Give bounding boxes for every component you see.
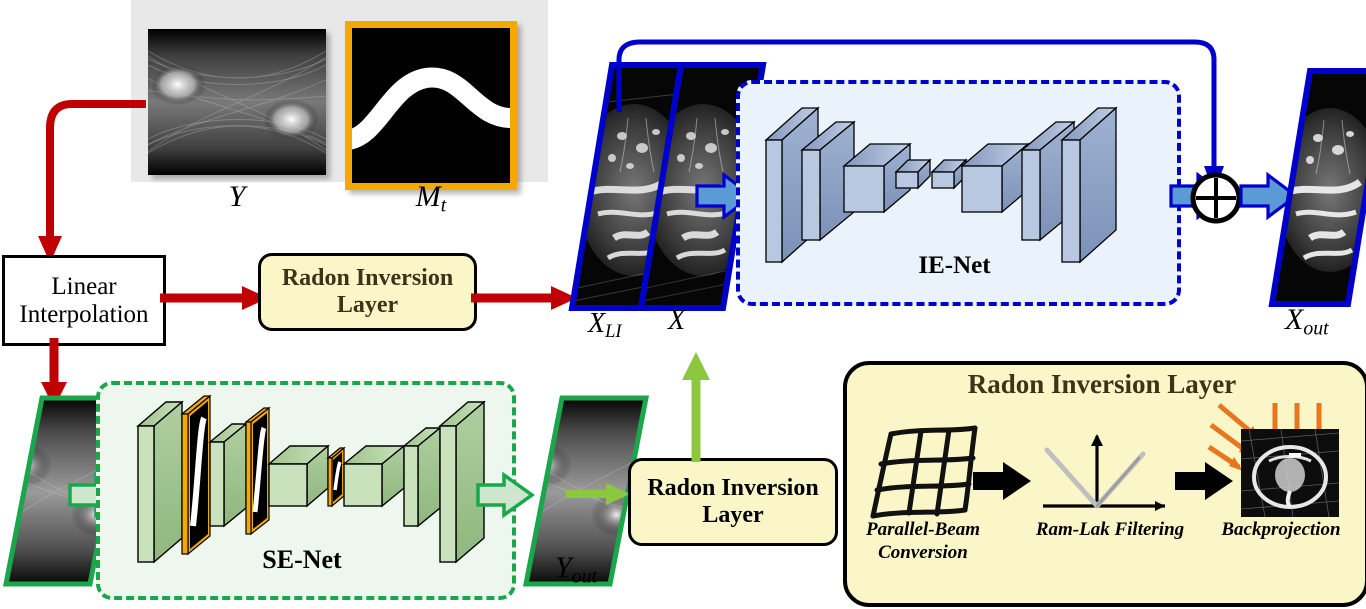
se-mask-slice-2: [246, 408, 269, 534]
radon-bottom-label-line2: Layer: [702, 502, 763, 529]
ram-lak-filtering-icon: [1035, 428, 1175, 522]
mask-mt-image: [345, 21, 517, 190]
ram-lak-filtering-label: Ram-Lak Filtering: [1020, 519, 1200, 541]
linear-interpolation-block[interactable]: Linear Interpolation: [2, 255, 166, 346]
se-block-2: [210, 424, 246, 526]
ct-xout-image: [1268, 68, 1366, 308]
se-mask-slice-3: [328, 448, 344, 506]
pbc-line2: Conversion: [848, 542, 998, 565]
radon-bottom-label-line1: Radon Inversion: [647, 475, 818, 502]
skip-connection-xhat-to-sum: [600, 30, 1240, 200]
se-block-3: [269, 446, 328, 506]
radon-inversion-layer-bottom-block[interactable]: Radon Inversion Layer: [628, 458, 838, 546]
pbc-line1: Parallel-Beam: [848, 519, 998, 542]
parallel-beam-conversion-label: Parallel-Beam Conversion: [848, 519, 998, 565]
ct-xout-label: Xout: [1285, 303, 1329, 341]
arrow-yout-to-radon-bottom: [566, 481, 632, 507]
ct-xli-label: XLI: [588, 308, 622, 342]
arrow-radon-bottom-to-xhat: [672, 340, 722, 462]
arrow-linear-interpolation-to-radon-top: [160, 283, 270, 313]
backprojection-label: Backprojection: [1196, 519, 1366, 541]
radon-top-label-line1: Radon Inversion: [282, 265, 453, 292]
radon-inversion-layer-top-block[interactable]: Radon Inversion Layer: [258, 253, 477, 331]
sum-operator: [1188, 170, 1244, 226]
se-mask-slice-1: [182, 396, 210, 554]
arrow-y-to-linear-interpolation: [0, 60, 180, 285]
backprojection-icon: [1209, 395, 1355, 521]
mask-mt-label: Mt: [345, 180, 517, 218]
se-block-1: [138, 402, 182, 562]
sinogram-yout-label: Yout: [555, 551, 597, 589]
se-block-4: [344, 446, 404, 506]
ct-xhat-label: ̂ X: [668, 305, 685, 337]
radon-top-label-line2: Layer: [337, 292, 398, 319]
linear-interpolation-label-line2: Interpolation: [19, 301, 148, 329]
ril-arrow-1: [973, 460, 1035, 502]
diagram-canvas: Y Mt Linear Interpolation Radon Inversio…: [0, 0, 1366, 609]
parallel-beam-conversion-icon: [867, 426, 985, 522]
ie-net-label: IE-Net: [736, 252, 1173, 280]
se-block-5: [404, 428, 440, 526]
linear-interpolation-label-line1: Linear: [51, 273, 116, 301]
arrow-radon-top-to-xli: [471, 283, 581, 313]
se-net-label: SE-Net: [96, 545, 508, 575]
